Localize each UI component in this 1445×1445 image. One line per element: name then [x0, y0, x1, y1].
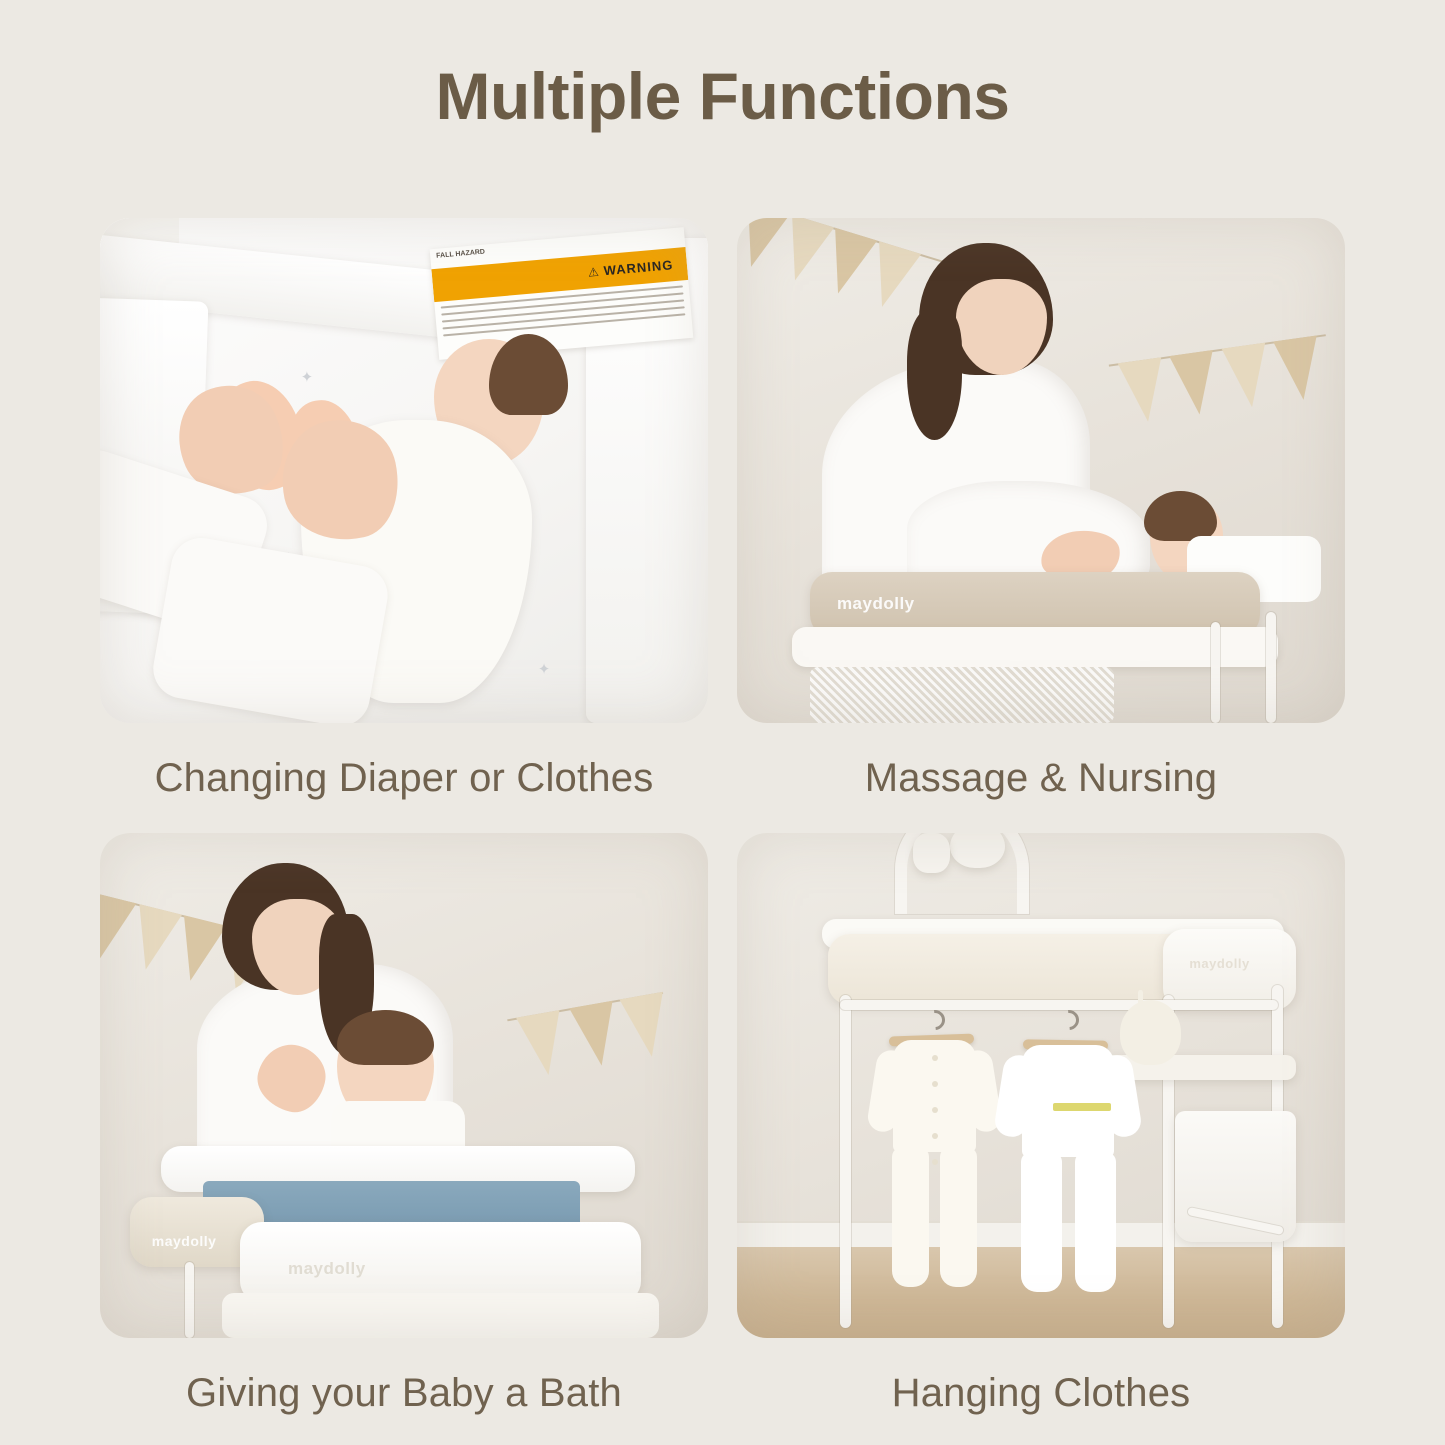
feature-caption-hanging: Hanging Clothes	[737, 1371, 1345, 1416]
baby-onesie	[877, 1040, 993, 1282]
feature-card-massage[interactable]: maydolly Massage & Nursing	[737, 218, 1345, 801]
brand-logo: maydolly	[152, 1233, 217, 1249]
onesie-label	[1053, 1103, 1111, 1111]
table-leg	[185, 1262, 194, 1338]
feature-card-hanging[interactable]: maydolly	[737, 833, 1345, 1416]
feature-photo-massage: maydolly	[737, 218, 1345, 723]
feature-card-bath[interactable]: maydolly maydolly Giving your Baby a Bat…	[100, 833, 708, 1416]
feature-grid: ✦ ✦ ✦ ✦ ✦ ✦ ✦ ✦ ✦ ✦ ✦ ✦	[100, 218, 1345, 1333]
hanging-rod	[840, 1000, 1278, 1010]
mat-star-icon: ✦	[538, 662, 551, 677]
mat-star-icon: ✦	[301, 370, 314, 385]
table-rail-front: maydolly	[240, 1222, 641, 1303]
swan-neck	[1138, 990, 1143, 1035]
plush-toy	[913, 833, 949, 873]
brand-logo: maydolly	[837, 594, 915, 614]
warning-heading: FALL HAZARD	[436, 249, 485, 260]
warning-triangle-icon: ⚠	[588, 265, 600, 280]
feature-caption-changing: Changing Diaper or Clothes	[100, 756, 708, 801]
table-leg	[1266, 612, 1276, 723]
infographic-page: Multiple Functions ✦ ✦ ✦ ✦ ✦ ✦ ✦ ✦ ✦ ✦	[0, 0, 1445, 1445]
mother-hair-back	[907, 309, 962, 440]
baby-onesie	[1005, 1045, 1133, 1287]
feature-photo-hanging: maydolly	[737, 833, 1345, 1338]
feature-caption-massage: Massage & Nursing	[737, 756, 1345, 801]
brand-logo: maydolly	[288, 1259, 366, 1279]
brand-logo: maydolly	[1189, 956, 1249, 971]
table-leg	[1211, 622, 1220, 723]
feature-caption-bath: Giving your Baby a Bath	[100, 1371, 708, 1416]
page-title: Multiple Functions	[0, 58, 1445, 134]
feature-card-changing[interactable]: ✦ ✦ ✦ ✦ ✦ ✦ ✦ ✦ ✦ ✦ ✦ ✦	[100, 218, 708, 801]
table-leg	[840, 995, 851, 1328]
warning-band-text: WARNING	[603, 258, 674, 279]
feature-photo-changing: ✦ ✦ ✦ ✦ ✦ ✦ ✦ ✦ ✦ ✦ ✦ ✦	[100, 218, 708, 723]
feature-photo-bath: maydolly maydolly	[100, 833, 708, 1338]
storage-mesh	[810, 667, 1114, 723]
warning-label: FALL HAZARD ⚠ WARNING	[430, 227, 694, 360]
table-base	[222, 1293, 660, 1338]
changing-table-deck	[792, 627, 1278, 667]
